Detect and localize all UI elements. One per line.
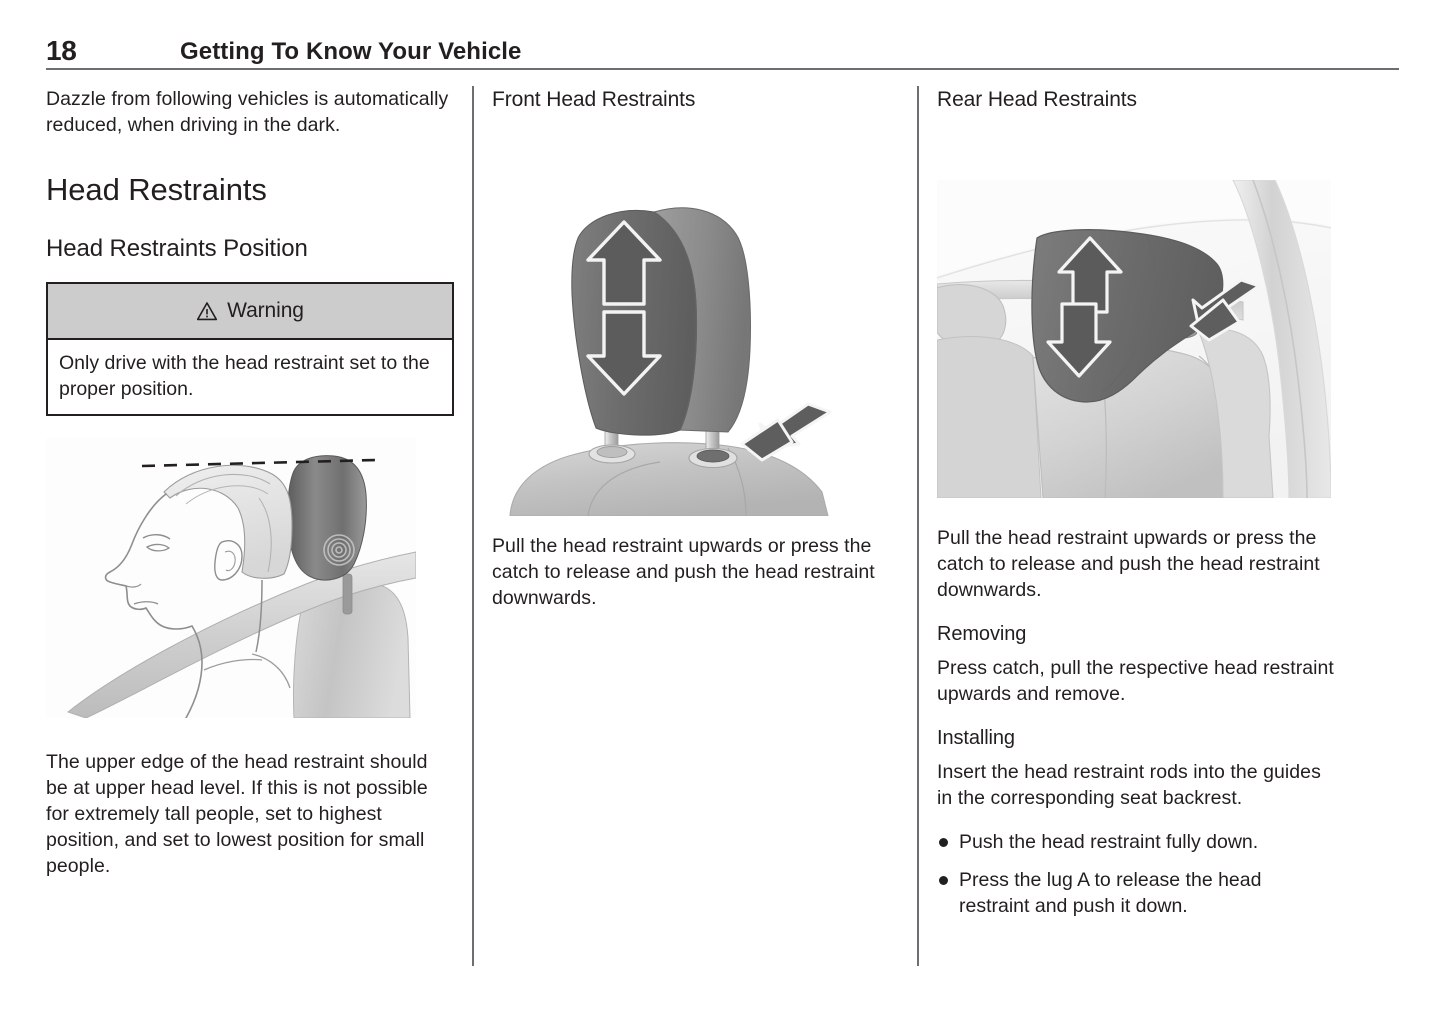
figure-head-restraint-position	[46, 438, 454, 723]
front-head-restraint-paragraph: Pull the head restraint upwards or press…	[492, 533, 898, 611]
heading-head-restraints: Head Restraints	[46, 172, 454, 208]
heading-head-restraints-position: Head Restraints Position	[46, 234, 454, 264]
warning-triangle-icon	[196, 301, 218, 321]
warning-box: Warning Only drive with the head restrai…	[46, 282, 454, 416]
warning-title: Warning	[227, 298, 304, 324]
middle-column: Front Head Restraints	[492, 86, 898, 611]
bullet-dot-icon	[939, 876, 948, 885]
right-column: Rear Head Restraints	[937, 86, 1337, 931]
column-divider-right	[917, 86, 919, 966]
figure-rear-head-restraint	[937, 180, 1337, 503]
list-item-label: Push the head restraint fully down.	[959, 831, 1258, 853]
left-column: Dazzle from following vehicles is automa…	[46, 86, 454, 879]
figure-front-head-restraint	[492, 186, 898, 521]
page-header: 18 Getting To Know Your Vehicle	[46, 36, 1399, 70]
intro-paragraph: Dazzle from following vehicles is automa…	[46, 86, 454, 138]
list-item: Push the head restraint fully down.	[937, 829, 1337, 855]
header-rule	[46, 68, 1399, 70]
heading-installing: Installing	[937, 725, 1337, 751]
warning-text: Only drive with the head restraint set t…	[59, 350, 441, 402]
installing-paragraph: Insert the head restraint rods into the …	[937, 759, 1337, 811]
rear-head-restraint-paragraph: Pull the head restraint upwards or press…	[937, 525, 1337, 603]
warning-header: Warning	[48, 284, 452, 340]
heading-removing: Removing	[937, 621, 1337, 647]
warning-body: Only drive with the head restraint set t…	[48, 340, 452, 414]
page-title: Getting To Know Your Vehicle	[180, 36, 522, 68]
bullet-dot-icon	[939, 838, 948, 847]
list-item-label: Press the lug A to release the head rest…	[959, 869, 1261, 917]
list-item: Press the lug A to release the head rest…	[937, 867, 1337, 919]
heading-front-head-restraints: Front Head Restraints	[492, 86, 898, 114]
column-divider-left	[472, 86, 474, 966]
installing-bullet-list: Push the head restraint fully down. Pres…	[937, 829, 1337, 919]
removing-paragraph: Press catch, pull the respective head re…	[937, 655, 1337, 707]
closing-paragraph: The upper edge of the head restraint sho…	[46, 749, 454, 879]
heading-rear-head-restraints: Rear Head Restraints	[937, 86, 1337, 114]
page-number: 18	[46, 36, 77, 66]
